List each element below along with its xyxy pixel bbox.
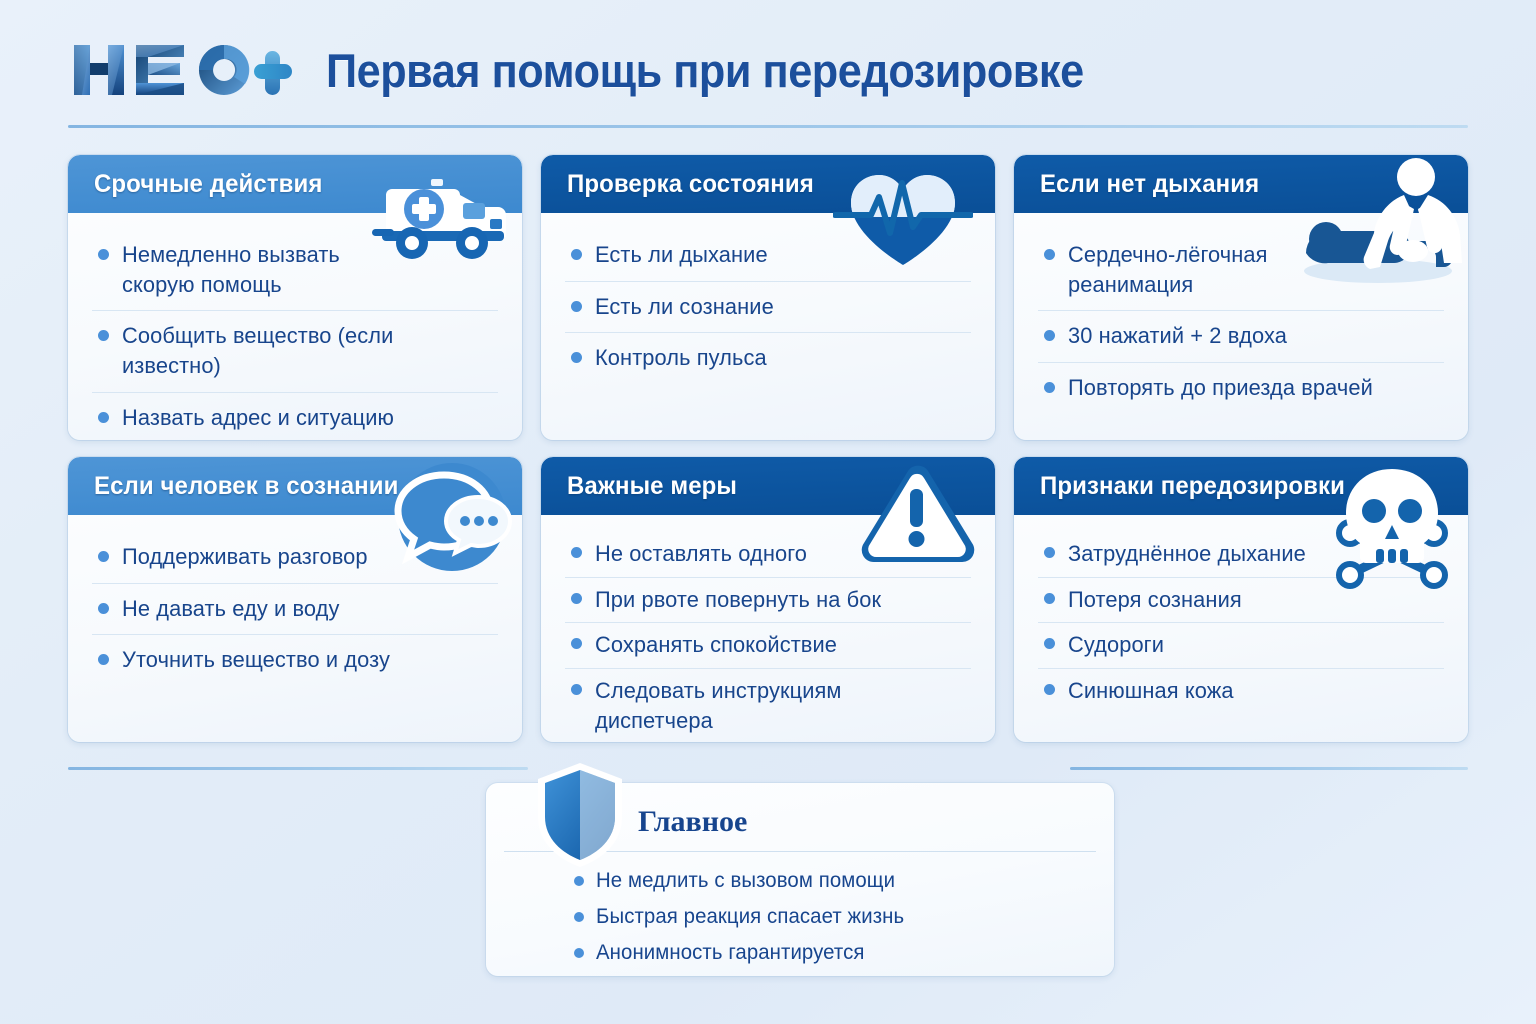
card-body: Не оставлять одного При рвоте повернуть … (541, 515, 995, 742)
list-item: Судороги (1038, 623, 1444, 669)
bullet-dot (571, 249, 582, 260)
list-item-label: Поддерживать разговор (122, 542, 368, 572)
neo-plus-logo (68, 37, 292, 103)
page-header: Первая помощь при передозировке (68, 22, 1468, 118)
card-header: Проверка состояния (541, 155, 995, 213)
list-item: Сообщить вещество (если известно) (92, 311, 498, 392)
card-title: Признаки передозировки (1040, 472, 1345, 501)
card-title: Важные меры (567, 472, 737, 501)
list-item: Повторять до приезда врачей (1038, 363, 1444, 414)
bullet-dot (98, 603, 109, 614)
list-item: Назвать адрес и ситуацию (92, 393, 498, 440)
list-item-label: Сообщить вещество (если известно) (122, 321, 485, 380)
bullet-dot (1044, 382, 1055, 393)
list-item: Уточнить вещество и дозу (92, 635, 498, 686)
bullet-dot (574, 876, 584, 886)
card-urgent-actions: Срочные действия (68, 155, 522, 440)
summary-card: Главное Не медлить с вызовом помощи Быст… (486, 783, 1114, 976)
bullet-dot (98, 654, 109, 665)
card-body: Поддерживать разговор Не давать еду и во… (68, 515, 522, 696)
list-item-label: Не медлить с вызовом помощи (596, 869, 895, 893)
card-title: Если нет дыхания (1040, 170, 1259, 199)
list-item: Анонимность гарантируется (574, 935, 1094, 971)
card-important-measures: Важные меры Не оставлять одного При рвот… (541, 457, 995, 742)
card-no-breathing: Если нет дыхания (1014, 155, 1468, 440)
card-header: Если нет дыхания (1014, 155, 1468, 213)
bullet-dot (1044, 330, 1055, 341)
list-item-label: Сердечно-лёгочная реанимация (1068, 240, 1311, 299)
list-item: Есть ли сознание (565, 282, 971, 334)
list-item-label: Потеря сознания (1068, 585, 1242, 615)
footer-divider-left (68, 767, 528, 770)
list-item-label: Затруднённое дыхание (1068, 539, 1306, 569)
card-body: Затруднённое дыхание Потеря сознания Суд… (1014, 515, 1468, 724)
list-item: При рвоте повернуть на бок (565, 578, 971, 624)
card-header: Важные меры (541, 457, 995, 515)
bullet-dot (571, 638, 582, 649)
bullet-dot (571, 593, 582, 604)
list-item: Контроль пульса (565, 333, 971, 384)
bullet-dot (571, 352, 582, 363)
bullet-dot (1044, 547, 1055, 558)
card-overdose-signs: Признаки передозировки (1014, 457, 1468, 742)
list-item-label: Уточнить вещество и дозу (122, 645, 390, 675)
card-title: Если человек в сознании (94, 472, 398, 501)
bullet-dot (571, 547, 582, 558)
card-conscious-person: Если человек в сознании Поддерживать раз… (68, 457, 522, 742)
summary-list: Не медлить с вызовом помощи Быстрая реак… (574, 863, 1094, 971)
bullet-dot (574, 948, 584, 958)
cards-grid: Срочные действия (68, 155, 1468, 742)
card-body: Немедленно вызвать скорую помощь Сообщит… (68, 213, 522, 440)
list-item-label: Быстрая реакция спасает жизнь (596, 905, 904, 929)
list-item-label: Анонимность гарантируется (596, 941, 865, 965)
card-header: Срочные действия (68, 155, 522, 213)
list-item: Сохранять спокойствие (565, 623, 971, 669)
card-header: Признаки передозировки (1014, 457, 1468, 515)
list-item-label: Судороги (1068, 630, 1164, 660)
infographic-page: Первая помощь при передозировке Срочные … (0, 0, 1536, 1024)
list-item-label: Следовать инструкциям диспетчера (595, 676, 958, 735)
list-item: Сердечно-лёгочная реанимация (1038, 230, 1444, 311)
list-item-label: 30 нажатий + 2 вдоха (1068, 321, 1287, 351)
list-item: Следовать инструкциям диспетчера (565, 669, 971, 742)
card-title: Срочные действия (94, 170, 322, 199)
header-divider (68, 125, 1468, 128)
bullet-dot (571, 684, 582, 695)
list-item-label: Не оставлять одного (595, 539, 807, 569)
bullet-dot (1044, 638, 1055, 649)
bullet-dot (571, 301, 582, 312)
bullet-dot (1044, 684, 1055, 695)
bullet-dot (1044, 593, 1055, 604)
bullet-dot (1044, 249, 1055, 260)
list-item: Не давать еду и воду (92, 584, 498, 636)
shield-icon (534, 761, 626, 869)
list-item: 30 нажатий + 2 вдоха (1038, 311, 1444, 363)
list-item-label: Есть ли дыхание (595, 240, 768, 270)
list-item: Не оставлять одного (565, 532, 971, 578)
bullet-dot (98, 551, 109, 562)
bullet-dot (574, 912, 584, 922)
card-body: Есть ли дыхание Есть ли сознание Контрол… (541, 213, 995, 394)
list-item-label: Есть ли сознание (595, 292, 774, 322)
list-item-label: Немедленно вызвать скорую помощь (122, 240, 365, 299)
footer-divider-right (1070, 767, 1468, 770)
bullet-dot (98, 330, 109, 341)
list-item-label: Синюшная кожа (1068, 676, 1234, 706)
list-item-label: При рвоте повернуть на бок (595, 585, 881, 615)
card-body: Сердечно-лёгочная реанимация 30 нажатий … (1014, 213, 1468, 424)
list-item: Быстрая реакция спасает жизнь (574, 899, 1094, 935)
list-item: Потеря сознания (1038, 578, 1444, 624)
list-item: Поддерживать разговор (92, 532, 498, 584)
list-item-label: Назвать адрес и ситуацию (122, 403, 394, 433)
list-item-label: Контроль пульса (595, 343, 767, 373)
summary-title: Главное (638, 805, 747, 839)
card-status-check: Проверка состояния (541, 155, 995, 440)
list-item: Затруднённое дыхание (1038, 532, 1444, 578)
page-title: Первая помощь при передозировке (326, 43, 1084, 98)
list-item: Не медлить с вызовом помощи (574, 863, 1094, 899)
list-item: Синюшная кожа (1038, 669, 1444, 714)
bullet-dot (98, 249, 109, 260)
list-item: Немедленно вызвать скорую помощь (92, 230, 498, 311)
list-item: Есть ли дыхание (565, 230, 971, 282)
list-item-label: Не давать еду и воду (122, 594, 340, 624)
card-header: Если человек в сознании (68, 457, 522, 515)
list-item-label: Сохранять спокойствие (595, 630, 837, 660)
bullet-dot (98, 412, 109, 423)
card-title: Проверка состояния (567, 170, 814, 199)
list-item-label: Повторять до приезда врачей (1068, 373, 1373, 403)
